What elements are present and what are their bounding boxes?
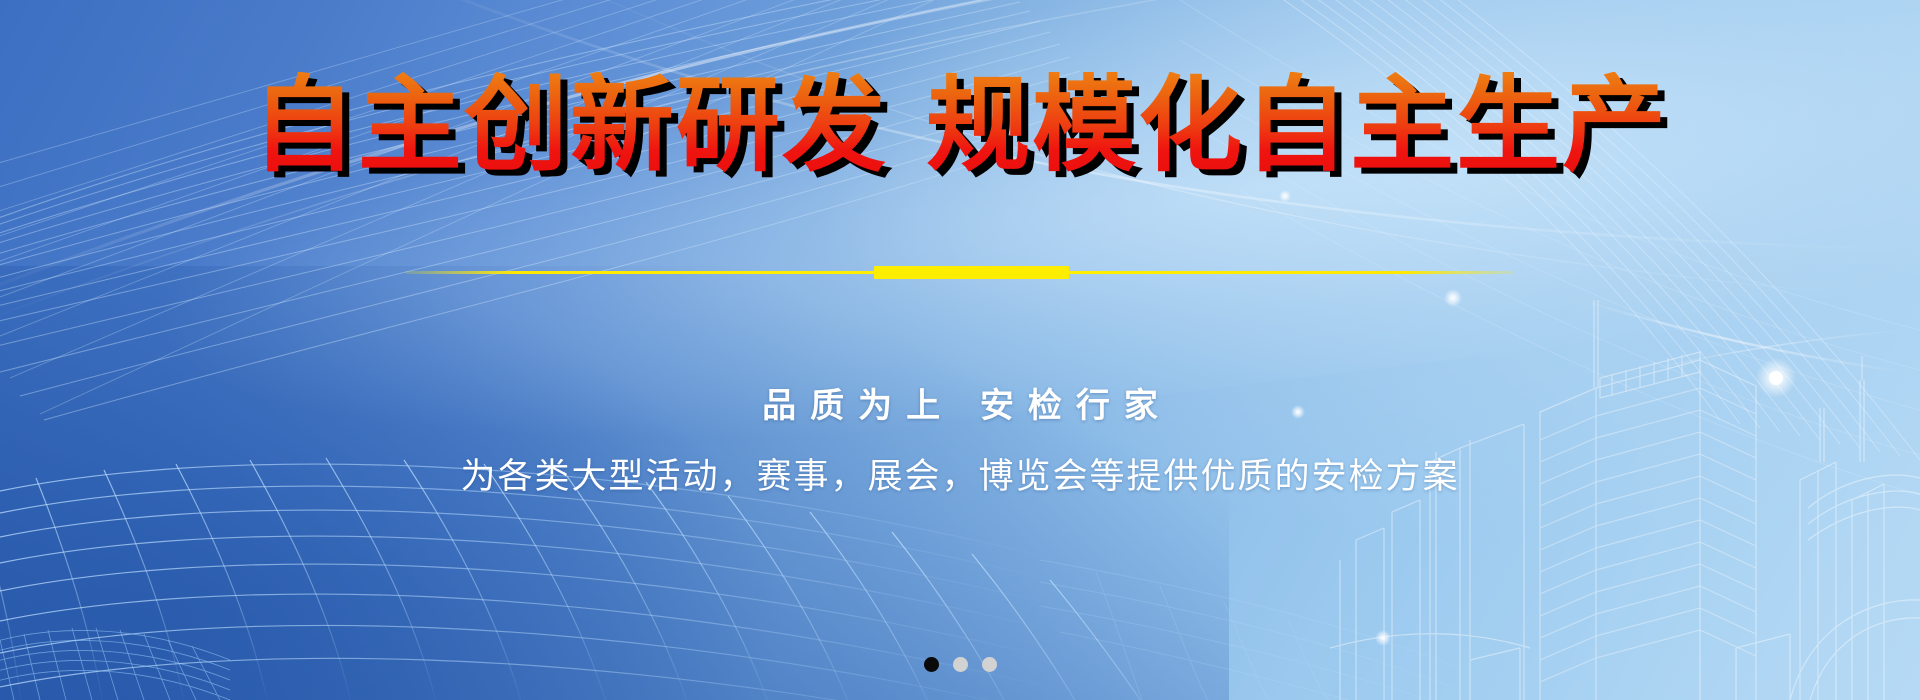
hero-banner: 自主创新研发 规模化自主生产 品质为上 安检行家 为各类大型活动，赛事，展会，博… [0, 0, 1920, 700]
banner-title-wrap: 自主创新研发 规模化自主生产 [0, 72, 1920, 178]
subtitle-secondary: 为各类大型活动，赛事，展会，博览会等提供优质的安检方案 [0, 448, 1920, 499]
banner-title: 自主创新研发 规模化自主生产 [252, 72, 1668, 178]
carousel-dots [0, 657, 1920, 672]
carousel-dot-1[interactable] [924, 657, 939, 672]
divider-thick-segment [874, 266, 1069, 279]
yellow-divider [406, 265, 1514, 281]
carousel-dot-2[interactable] [953, 657, 968, 672]
carousel-dot-3[interactable] [982, 657, 997, 672]
subtitle-primary: 品质为上 安检行家 [0, 378, 1920, 427]
